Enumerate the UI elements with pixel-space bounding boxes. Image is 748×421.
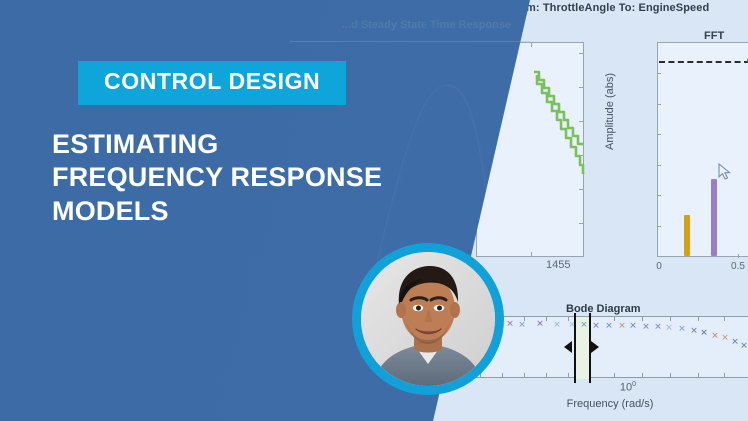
bode-axes: ✕ ✕ ✕ ✕ ✕ ✕ ✕ ✕ ✕ ✕ ✕ ✕ ✕ ✕ ✕ ✕ ✕ ✕ ✕ ✕ … xyxy=(472,316,748,378)
bode-arrow-left-icon[interactable] xyxy=(564,341,572,353)
fft-bar-2 xyxy=(711,179,717,256)
bode-x-axis-label: Frequency (rad/s) xyxy=(472,398,748,410)
page-title: ESTIMATING FREQUENCY RESPONSE MODELS xyxy=(52,128,382,228)
mouse-pointer-icon xyxy=(718,163,732,181)
fft-peak-reference-line xyxy=(659,61,748,63)
headline-line-2: FREQUENCY RESPONSE xyxy=(52,161,382,194)
bode-xtick-label: 100 xyxy=(620,381,636,394)
kicker-label: CONTROL DESIGN xyxy=(104,68,320,94)
bode-chart-title: Bode Diagram xyxy=(566,303,641,315)
fft-y-axis-label: Amplitude (abs) xyxy=(604,73,616,150)
headline-line-1: ESTIMATING xyxy=(52,128,382,161)
fft-bar-1 xyxy=(684,215,690,256)
slide-canvas: From: ThrottleAngle To: EngineSpeed FFT … xyxy=(0,0,748,421)
time-axis-tick-label: 1455 xyxy=(546,259,570,271)
fft-axes xyxy=(657,42,748,257)
avatar xyxy=(352,243,504,395)
avatar-image xyxy=(361,252,495,386)
fft-xtick-0: 0 xyxy=(656,261,662,272)
kicker-badge: CONTROL DESIGN xyxy=(78,61,346,105)
bode-cursor-left[interactable] xyxy=(574,313,576,383)
fft-xtick-0.5: 0.5 xyxy=(731,261,745,272)
ghost-divider xyxy=(290,41,530,42)
headline-line-3: MODELS xyxy=(52,195,382,228)
ghost-chart-title: ...d Steady State Time Response xyxy=(342,19,511,31)
bode-arrow-right-icon[interactable] xyxy=(591,341,599,353)
